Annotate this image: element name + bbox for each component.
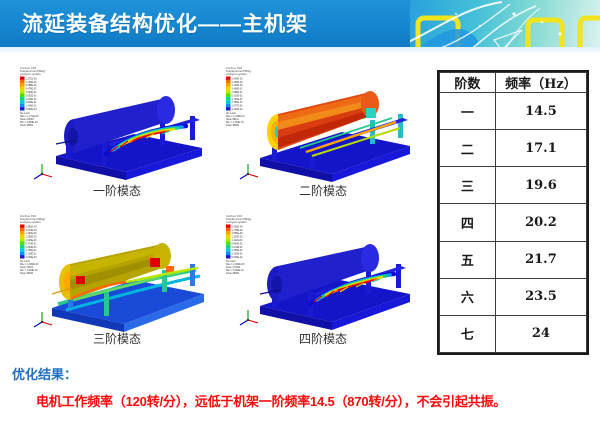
svg-text:Analysis system: Analysis system xyxy=(226,220,247,224)
axis-triad xyxy=(34,164,52,179)
cell-order: 四 xyxy=(440,204,496,241)
table-row: 四 20.2 xyxy=(440,204,587,241)
svg-text:Node 38090: Node 38090 xyxy=(226,124,240,127)
cell-order: 二 xyxy=(440,130,496,167)
axis-triad xyxy=(240,164,258,179)
svg-text:Node 38090: Node 38090 xyxy=(20,124,34,127)
cell-frequency: 19.6 xyxy=(495,167,586,204)
contour-legend: Contour Plot Displacement(Mag) Analysis … xyxy=(20,214,45,275)
svg-text:Node 38090: Node 38090 xyxy=(226,272,240,275)
conclusion-text: 电机工作频率（120转/分），远低于机架一阶频率14.5（870转/分），不会引… xyxy=(36,391,506,410)
svg-text:5.000E-04: 5.000E-04 xyxy=(232,256,244,259)
figure-caption: 三阶模态 xyxy=(14,330,220,347)
frame-geometry xyxy=(52,243,204,332)
svg-text:Node 38090: Node 38090 xyxy=(20,272,34,275)
cell-order: 一 xyxy=(440,93,496,130)
fea-plot-mode-3: Contour Plot Displacement(Mag) Analysis … xyxy=(14,208,220,332)
page-title: 流延装备结构优化——主机架 xyxy=(22,8,308,38)
frame-geometry xyxy=(56,96,202,180)
fea-plot-mode-1: Contour Plot Displacement(Mag) Analysis … xyxy=(14,60,220,184)
figure-caption: 一阶模态 xyxy=(14,182,220,199)
slide-header: 流延装备结构优化——主机架 xyxy=(0,0,600,47)
contour-legend: Contour Plot Displacement(Mag) Analysis … xyxy=(226,214,251,275)
figure-mode-3: Contour Plot Displacement(Mag) Analysis … xyxy=(14,208,220,351)
figure-caption: 四阶模态 xyxy=(220,330,426,347)
svg-text:Analysis system: Analysis system xyxy=(20,220,41,224)
axis-triad xyxy=(34,312,52,327)
table-row: 七 24 xyxy=(440,315,587,352)
svg-text:4.100E-04: 4.100E-04 xyxy=(232,108,244,111)
table-header-row: 阶数 频率（Hz） xyxy=(440,73,587,93)
figure-grid: Contour Plot Displacement(Mag) Analysis … xyxy=(8,60,428,358)
frame-geometry xyxy=(260,244,410,330)
cell-frequency: 21.7 xyxy=(495,241,586,278)
figure-mode-4: Contour Plot Displacement(Mag) Analysis … xyxy=(220,208,426,351)
figure-mode-2: Contour Plot Displacement(Mag) Analysis … xyxy=(220,60,426,203)
axis-triad xyxy=(240,310,258,325)
cell-frequency: 17.1 xyxy=(495,130,586,167)
cell-frequency: 24 xyxy=(495,315,586,352)
cell-order: 七 xyxy=(440,315,496,352)
header-decoration xyxy=(410,0,600,47)
conclusion-label: 优化结果： xyxy=(12,364,77,383)
svg-text:1.000E-03: 1.000E-03 xyxy=(26,256,38,259)
header-underline xyxy=(0,47,600,53)
table-row: 五 21.7 xyxy=(440,241,587,278)
frequency-table: 阶数 频率（Hz） 一 14.5 二 17.1 三 19.6 四 20.2 五 xyxy=(437,70,589,355)
svg-text:Analysis system: Analysis system xyxy=(20,72,41,76)
fea-plot-mode-4: Contour Plot Displacement(Mag) Analysis … xyxy=(220,208,426,332)
cell-frequency: 14.5 xyxy=(495,93,586,130)
cell-order: 六 xyxy=(440,278,496,315)
frame-geometry xyxy=(260,91,410,182)
cell-frequency: 20.2 xyxy=(495,204,586,241)
column-header-frequency: 频率（Hz） xyxy=(495,73,586,93)
column-header-order: 阶数 xyxy=(440,73,496,93)
cell-order: 三 xyxy=(440,167,496,204)
figure-mode-1: Contour Plot Displacement(Mag) Analysis … xyxy=(14,60,220,203)
figure-caption: 二阶模态 xyxy=(220,182,426,199)
fea-plot-mode-2: Contour Plot Displacement(Mag) Analysis … xyxy=(220,60,426,184)
svg-text:3.800E-04: 3.800E-04 xyxy=(26,108,38,111)
table-row: 三 19.6 xyxy=(440,167,587,204)
table-row: 二 17.1 xyxy=(440,130,587,167)
table-row: 一 14.5 xyxy=(440,93,587,130)
cell-order: 五 xyxy=(440,241,496,278)
svg-text:Analysis system: Analysis system xyxy=(226,72,247,76)
contour-legend: Contour Plot Displacement(Mag) Analysis … xyxy=(226,66,251,127)
contour-legend: Contour Plot Displacement(Mag) Analysis … xyxy=(20,66,48,127)
cell-frequency: 23.5 xyxy=(495,278,586,315)
table-row: 六 23.5 xyxy=(440,278,587,315)
